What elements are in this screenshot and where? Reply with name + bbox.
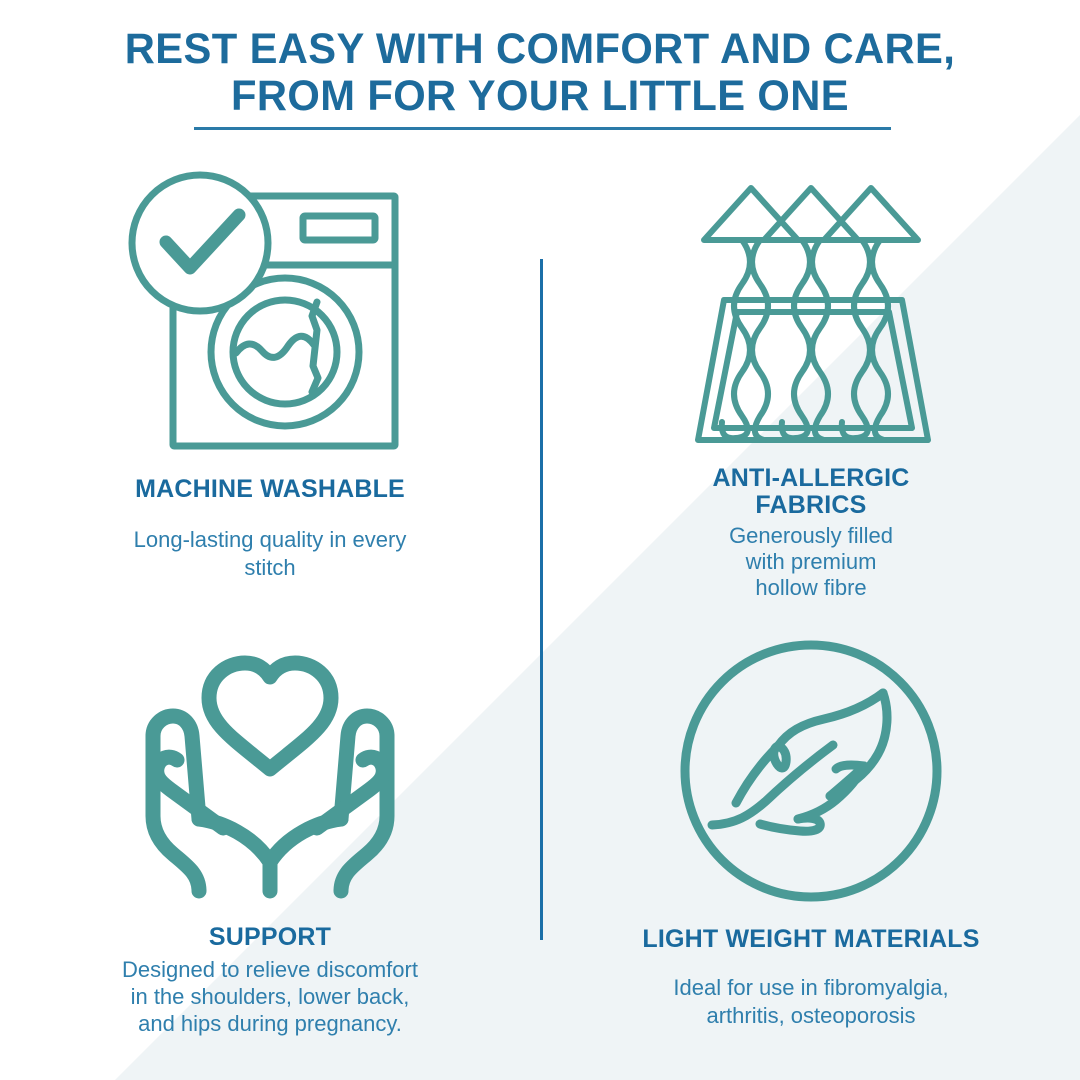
page-title-line-1: REST EASY WITH COMFORT AND CARE,: [16, 26, 1064, 73]
feature-desc-line: hollow fibre: [566, 575, 1056, 601]
feature-card-support: SUPPORT Designed to relieve discomfort i…: [25, 632, 515, 1037]
feature-card-machine-washable: MACHINE WASHABLE Long-lasting quality in…: [25, 168, 515, 582]
page-title: REST EASY WITH COMFORT AND CARE, FROM FO…: [0, 26, 1080, 120]
hands-holding-heart-icon: [131, 636, 409, 904]
feature-title-line: MACHINE WASHABLE: [25, 474, 515, 504]
feature-desc-line: with premium: [566, 549, 1056, 575]
infographic-content: REST EASY WITH COMFORT AND CARE, FROM FO…: [0, 0, 1080, 1080]
icon-container-anti-allergic: [566, 178, 1056, 450]
feature-desc-line: Long-lasting quality in every: [25, 526, 515, 554]
feature-title-line: LIGHT WEIGHT MATERIALS: [566, 924, 1056, 954]
feature-title-support: SUPPORT: [25, 922, 515, 952]
feature-title-anti-allergic: ANTI-ALLERGIC FABRICS: [566, 465, 1056, 519]
infographic-page: REST EASY WITH COMFORT AND CARE, FROM FO…: [0, 0, 1080, 1080]
feature-desc-line: stitch: [25, 554, 515, 582]
icon-container-support: [25, 632, 515, 904]
feature-description-light-weight: Ideal for use in fibromyalgia, arthritis…: [566, 974, 1056, 1030]
feature-title-line: FABRICS: [566, 492, 1056, 519]
feather-in-circle-icon: [678, 638, 944, 904]
feature-card-light-weight: LIGHT WEIGHT MATERIALS Ideal for use in …: [566, 638, 1056, 1030]
feature-description-machine-washable: Long-lasting quality in every stitch: [25, 526, 515, 582]
breathable-fabric-airflow-icon: [680, 182, 942, 450]
feature-card-anti-allergic: ANTI-ALLERGIC FABRICS Generously filled …: [566, 178, 1056, 601]
title-underline-rule: [194, 127, 891, 130]
icon-container-machine-washable: [25, 168, 515, 450]
feature-title-machine-washable: MACHINE WASHABLE: [25, 474, 515, 504]
feature-desc-line: arthritis, osteoporosis: [566, 1002, 1056, 1030]
icon-container-light-weight: [566, 638, 1056, 904]
page-title-line-2: FROM FOR YOUR LITTLE ONE: [16, 73, 1064, 120]
feature-description-anti-allergic: Generously filled with premium hollow fi…: [566, 523, 1056, 601]
feature-title-line: SUPPORT: [25, 922, 515, 952]
washing-machine-check-icon: [125, 168, 415, 450]
column-divider: [540, 259, 543, 940]
feature-desc-line: and hips during pregnancy.: [25, 1010, 515, 1037]
feature-desc-line: Ideal for use in fibromyalgia,: [566, 974, 1056, 1002]
feature-title-line: ANTI-ALLERGIC: [566, 465, 1056, 492]
feature-desc-line: in the shoulders, lower back,: [25, 983, 515, 1010]
feature-desc-line: Designed to relieve discomfort: [25, 956, 515, 983]
feature-desc-line: Generously filled: [566, 523, 1056, 549]
feature-title-light-weight: LIGHT WEIGHT MATERIALS: [566, 924, 1056, 954]
feature-description-support: Designed to relieve discomfort in the sh…: [25, 956, 515, 1037]
